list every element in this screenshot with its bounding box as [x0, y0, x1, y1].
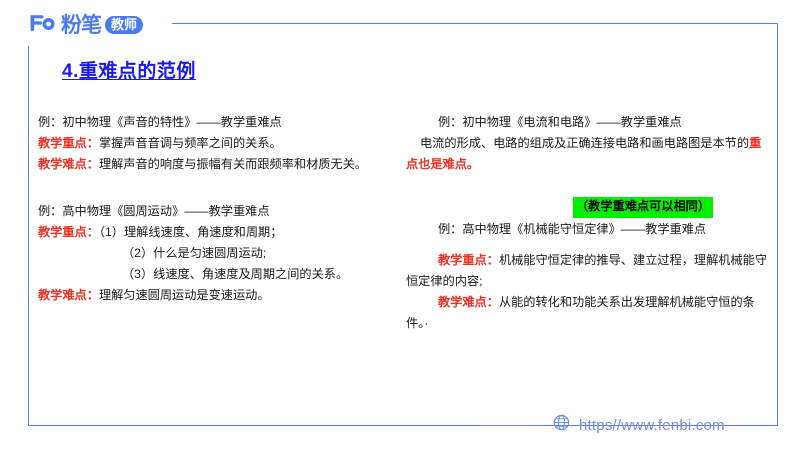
page-title: 4.重难点的范例: [62, 56, 196, 83]
example-4-key-point: 教学重点：机械能守恒定律的推导、建立过程，理解机械能守恒定律的内容;: [406, 250, 772, 292]
brand-name: 粉笔: [61, 15, 101, 36]
frame-border-right: [777, 23, 778, 426]
key-point-item-2-row: （2）什么是匀速圆周运动;: [38, 243, 393, 264]
difficulty-label: 教学难点：: [438, 295, 499, 309]
example-3-body-text: 电流的形成、电路的组成及正确连接电路和画电路图是本节的: [420, 136, 749, 150]
difficulty-label: 教学难点：: [38, 288, 99, 302]
key-point-item-1: （1）理解线速度、角速度和周期；: [99, 225, 283, 239]
difficulty-label: 教学难点：: [38, 157, 99, 171]
column-spacer: [38, 175, 393, 201]
block-spacer: [406, 240, 772, 250]
example-2-key-point: 教学重点：（1）理解线速度、角速度和周期；: [38, 222, 393, 243]
key-point-label: 教学重点：: [438, 253, 499, 267]
frame-border-top: [172, 23, 778, 24]
example-4-heading: 例：高中物理《机械能守恒定律》——教学重难点: [406, 219, 772, 240]
example-block-4: 例：高中物理《机械能守恒定律》——教学重难点 教学重点：机械能守恒定律的推导、建…: [406, 219, 772, 334]
globe-icon: [553, 414, 570, 436]
green-callout-note: （教学重难点可以相同）: [573, 197, 713, 218]
example-1-heading: 例：初中物理《声音的特性》——教学重难点: [38, 112, 393, 133]
example-2-heading: 例：高中物理《圆周运动》——教学重难点: [38, 201, 393, 222]
example-block-3: 例：初中物理《电流和电路》——教学重难点 电流的形成、电路的组成及正确连接电路和…: [406, 112, 772, 175]
key-point-item-3: （3）线速度、角速度及周期之间的关系。: [122, 267, 348, 281]
key-point-item-3-row: （3）线速度、角速度及周期之间的关系。: [38, 264, 393, 285]
example-block-2: 例：高中物理《圆周运动》——教学重难点 教学重点：（1）理解线速度、角速度和周期…: [38, 201, 393, 306]
frame-border-left: [28, 46, 29, 425]
example-4-difficulty: 教学难点：从能的转化和功能关系出发理解机械能守恒的条件。·: [406, 292, 772, 334]
difficulty-text: 理解声音的响度与振幅有关而跟频率和材质无关。: [99, 157, 367, 171]
example-block-1: 例：初中物理《声音的特性》——教学重难点 教学重点：掌握声音音调与频率之间的关系…: [38, 112, 393, 175]
key-point-label: 教学重点：: [38, 225, 99, 239]
fenbi-fb-logo-icon: [27, 12, 57, 39]
column-spacer: [406, 175, 772, 193]
left-column: 例：初中物理《声音的特性》——教学重难点 教学重点：掌握声音音调与频率之间的关系…: [38, 112, 393, 306]
slide-canvas: 粉笔 教师 4.重难点的范例 例：初中物理《声音的特性》——教学重难点 教学重点…: [0, 0, 800, 450]
right-column: 例：初中物理《电流和电路》——教学重难点 电流的形成、电路的组成及正确连接电路和…: [406, 112, 772, 334]
example-3-body: 电流的形成、电路的组成及正确连接电路和画电路图是本节的重点也是难点。: [406, 133, 772, 175]
brand-badge: 教师: [105, 16, 143, 34]
key-point-text: 掌握声音音调与频率之间的关系。: [99, 136, 282, 150]
example-2-difficulty: 教学难点：理解匀速圆周运动是变速运动。: [38, 285, 393, 306]
footer: https//www.fenbi.com: [482, 414, 725, 436]
example-1-difficulty: 教学难点：理解声音的响度与振幅有关而跟频率和材质无关。: [38, 154, 393, 175]
footer-url[interactable]: https//www.fenbi.com: [579, 417, 725, 434]
example-3-heading: 例：初中物理《电流和电路》——教学重难点: [406, 112, 772, 133]
brand-logo: 粉笔 教师: [27, 12, 143, 38]
example-1-key-point: 教学重点：掌握声音音调与频率之间的关系。: [38, 133, 393, 154]
footer-rule: [482, 425, 544, 426]
key-point-item-2: （2）什么是匀速圆周运动;: [122, 246, 266, 260]
difficulty-text: 理解匀速圆周运动是变速运动。: [99, 288, 270, 302]
key-point-label: 教学重点：: [38, 136, 99, 150]
